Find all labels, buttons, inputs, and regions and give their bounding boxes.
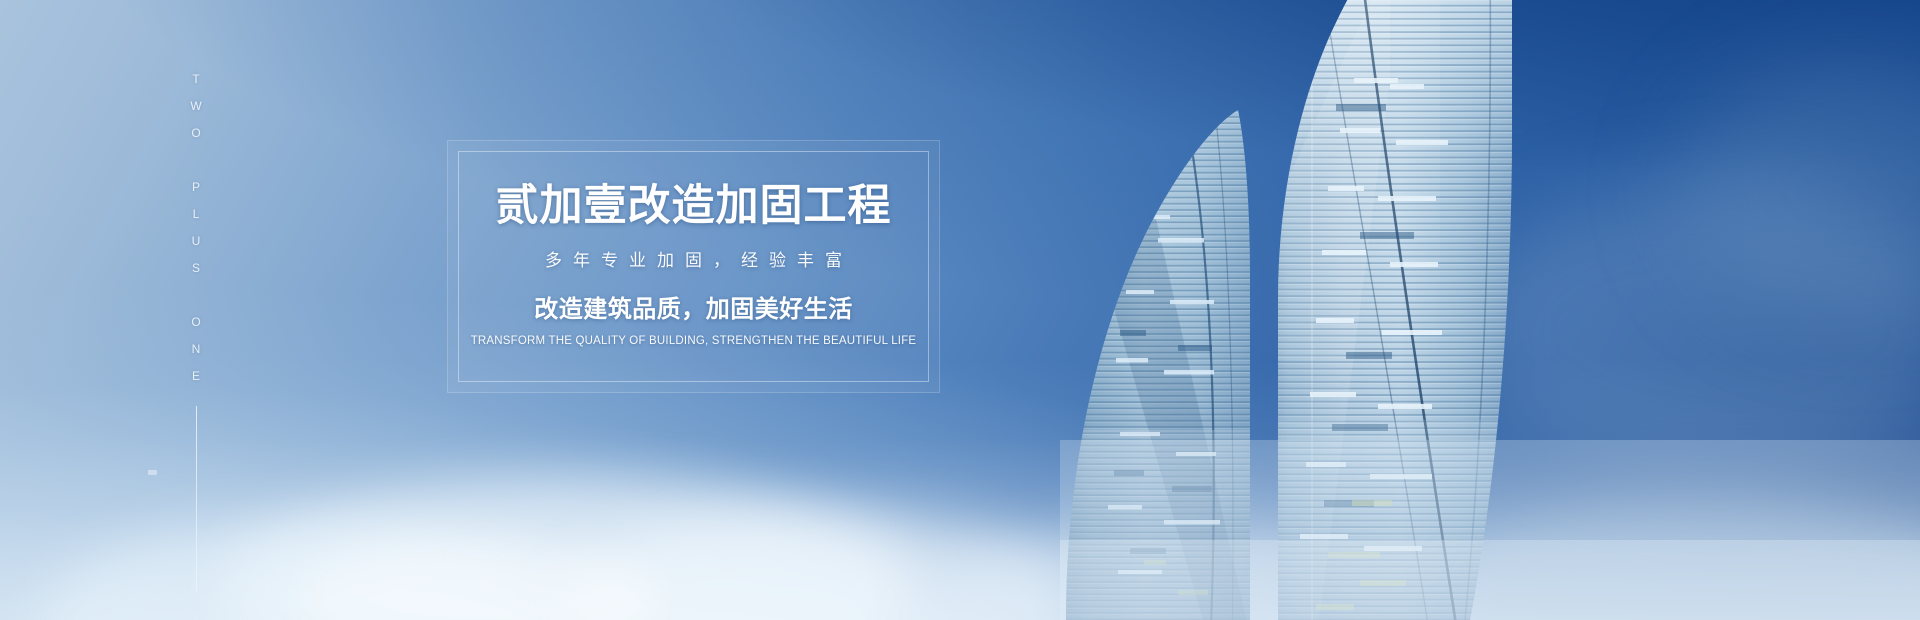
hero-subheadline: 多年专业加固，经验丰富 [534,251,853,271]
brand-vertical-text: TWO PLUS ONE [190,72,202,396]
sky-lower-glow [0,360,1920,620]
vertical-divider-line [196,406,197,592]
slide-indicator[interactable] [148,470,157,475]
hero-text-stack: 贰加壹改造加固工程 多年专业加固，经验丰富 改造建筑品质，加固美好生活 TRAN… [448,141,939,392]
hero-text-panel: 贰加壹改造加固工程 多年专业加固，经验丰富 改造建筑品质，加固美好生活 TRAN… [447,140,940,393]
hero-headline: 贰加壹改造加固工程 [496,184,892,230]
hero-banner: TWO PLUS ONE 贰加壹改造加固工程 多年专业加固，经验丰富 改造建筑品… [0,0,1920,620]
hero-english-caption: TRANSFORM THE QUALITY OF BUILDING, STREN… [471,335,917,349]
hero-tagline: 改造建筑品质，加固美好生活 [534,296,853,325]
brand-vertical-rail: TWO PLUS ONE [176,72,216,592]
